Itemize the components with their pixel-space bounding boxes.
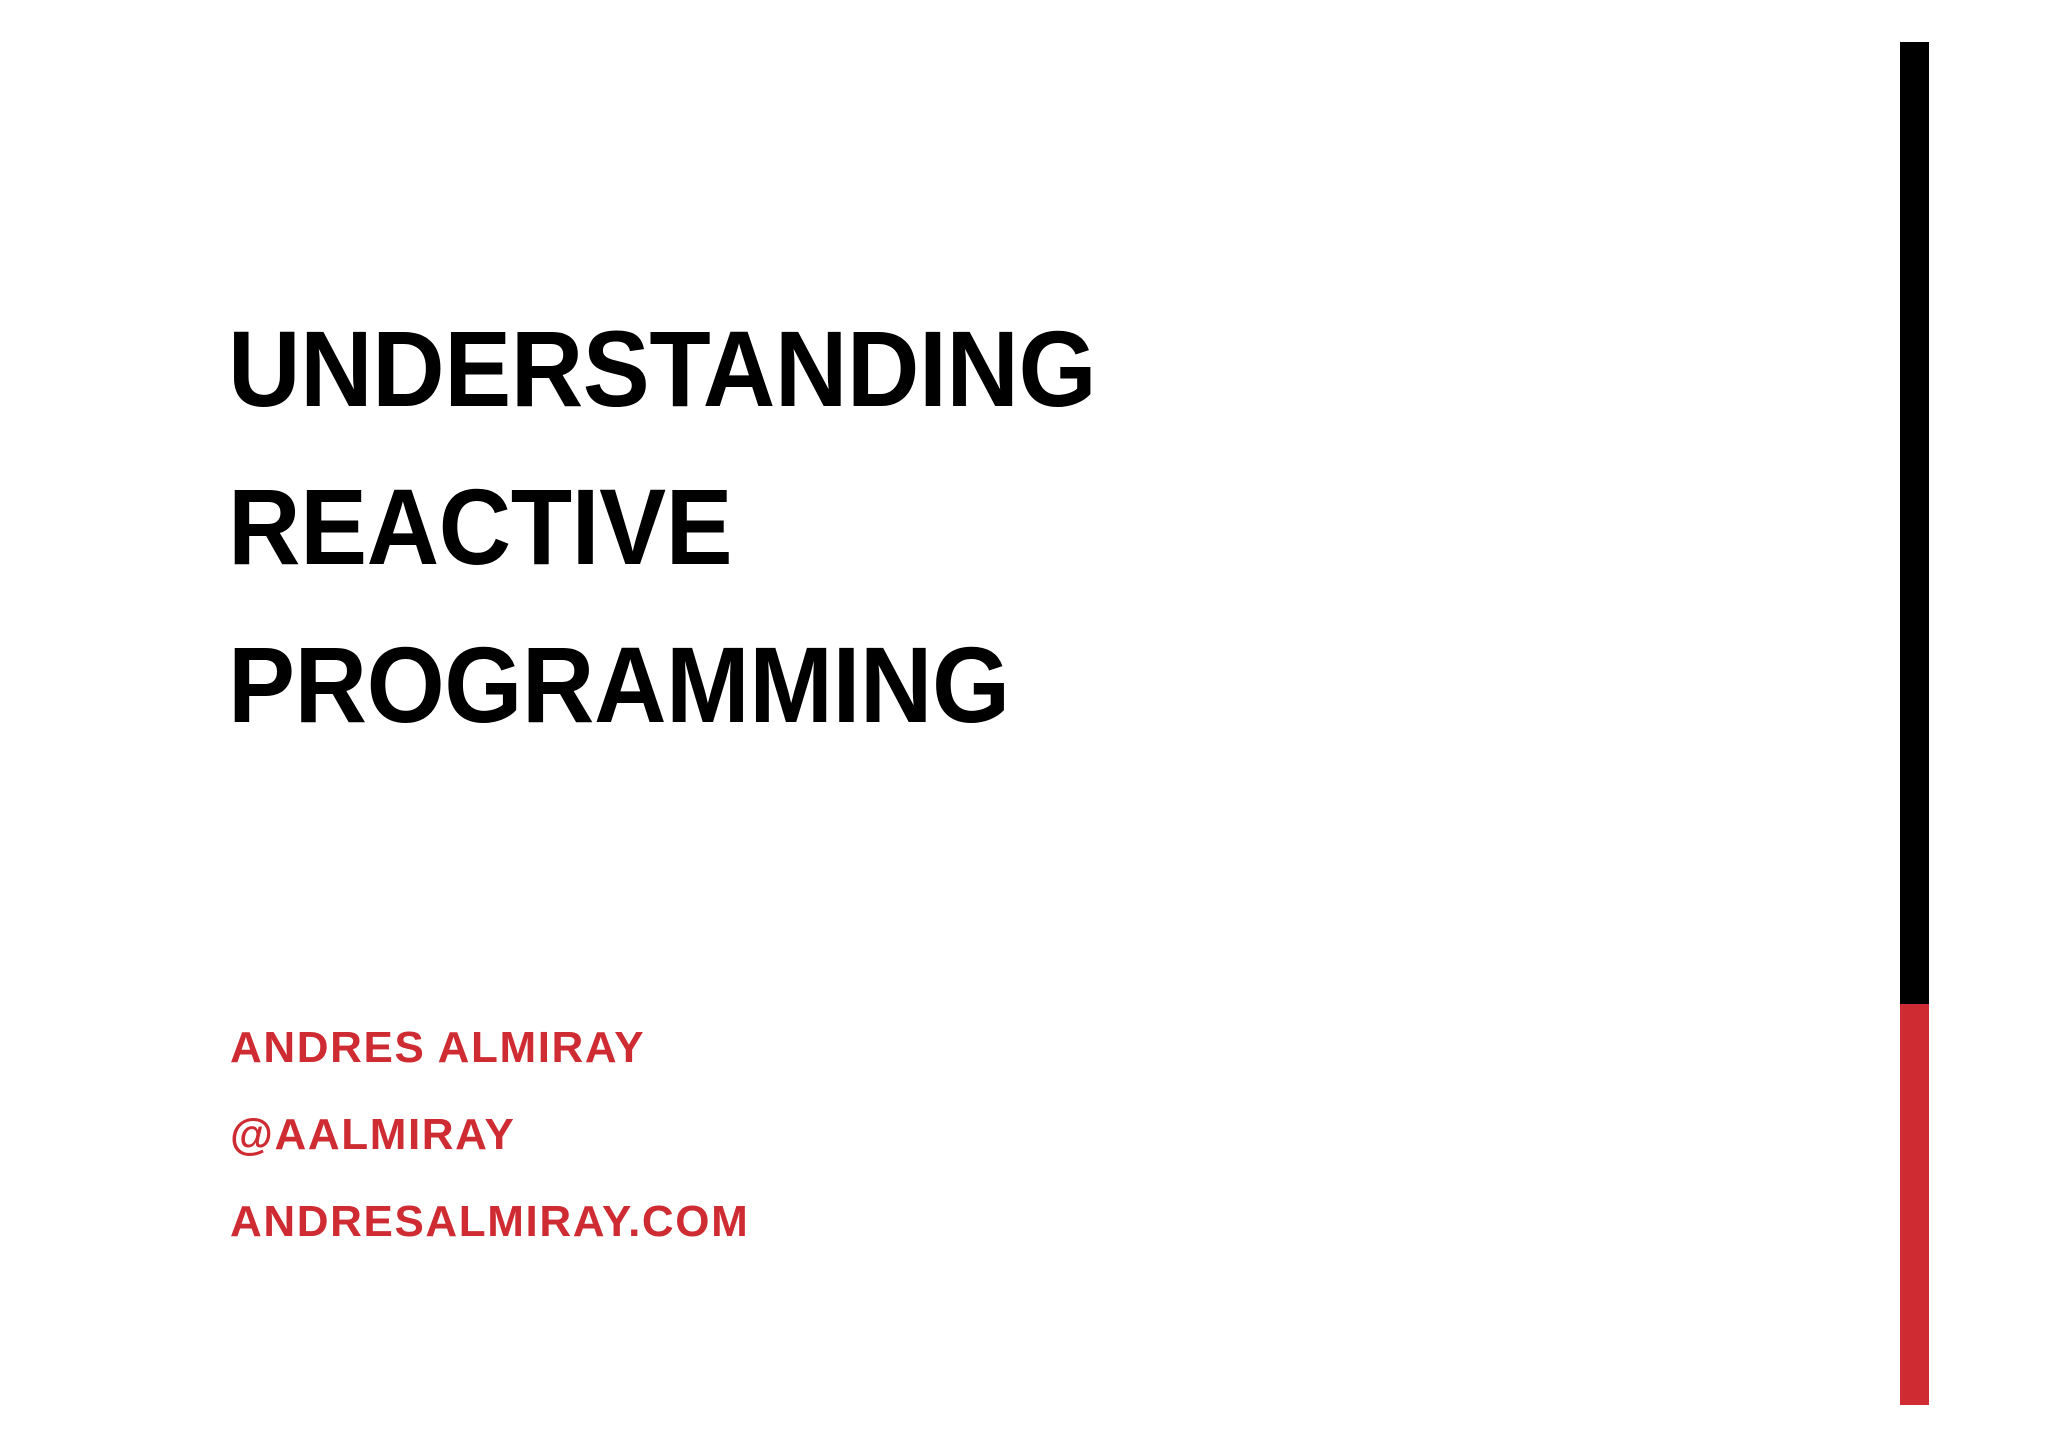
- accent-bar-black-segment: [1900, 42, 1929, 1004]
- byline-social-handle: @AALMIRAY: [230, 1091, 1430, 1178]
- vertical-accent-bar: [1900, 42, 1929, 1405]
- title-line-3: PROGRAMMING: [228, 606, 1679, 764]
- title-line-2: REACTIVE: [228, 448, 1679, 606]
- accent-bar-red-segment: [1900, 1004, 1929, 1405]
- title-line-1: UNDERSTANDING: [228, 290, 1679, 448]
- byline-website: ANDRESALMIRAY.COM: [230, 1178, 1430, 1265]
- slide-byline: ANDRES ALMIRAY @AALMIRAY ANDRESALMIRAY.C…: [230, 1004, 1430, 1265]
- title-slide: UNDERSTANDING REACTIVE PROGRAMMING ANDRE…: [0, 0, 2048, 1447]
- byline-author: ANDRES ALMIRAY: [230, 1004, 1430, 1091]
- slide-title: UNDERSTANDING REACTIVE PROGRAMMING: [228, 290, 1788, 764]
